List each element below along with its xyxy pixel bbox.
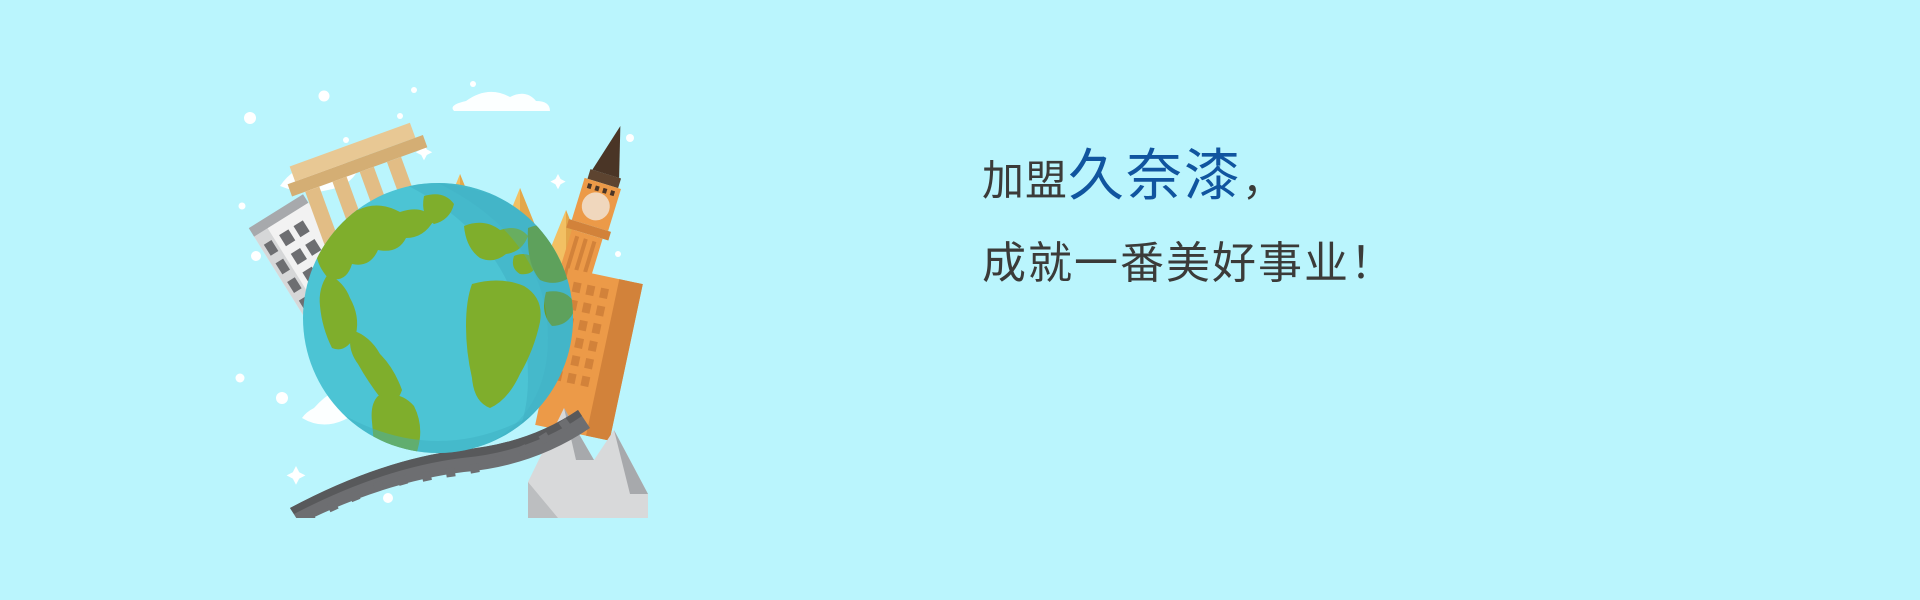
headline-comma: ， — [1242, 157, 1284, 204]
headline-line-1: 加盟久奈漆， — [982, 148, 1742, 220]
headline-subtitle: 成就一番美好事业！ — [982, 239, 1396, 288]
brand-name: 久奈漆 — [1068, 144, 1242, 207]
globe-illustration — [228, 78, 648, 518]
headline-prefix: 加盟 — [982, 157, 1068, 204]
headline-line-2: 成就一番美好事业！ — [982, 242, 1742, 314]
headline-block: 加盟久奈漆， 成就一番美好事业！ — [982, 148, 1742, 314]
promo-banner: 加盟久奈漆， 成就一番美好事业！ — [0, 0, 1920, 600]
